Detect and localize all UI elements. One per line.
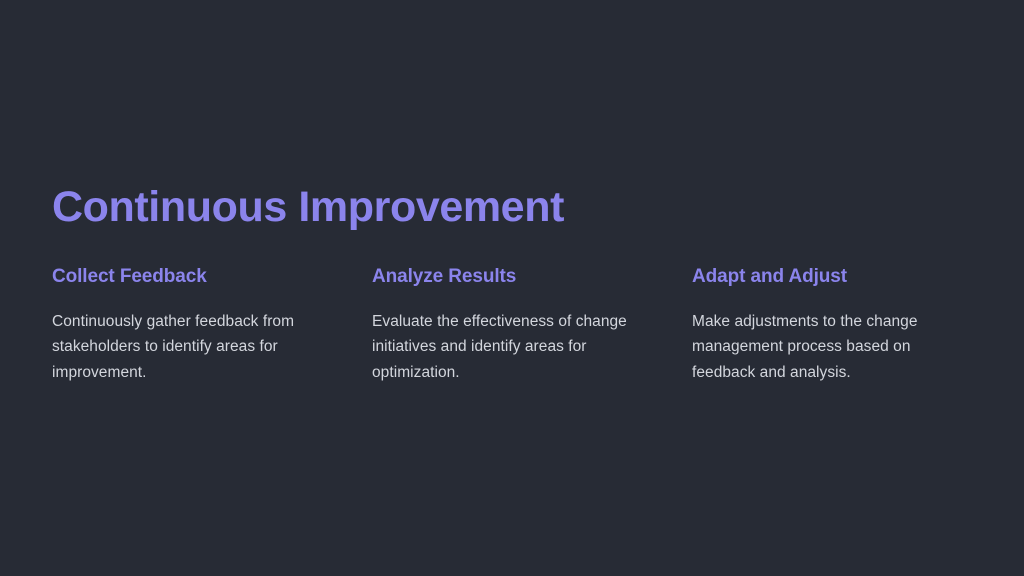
column-heading: Collect Feedback [52, 266, 324, 288]
column-heading: Analyze Results [372, 266, 644, 288]
column-adapt-and-adjust: Adapt and Adjust Make adjustments to the… [692, 266, 964, 385]
column-body-text: Evaluate the effectiveness of change ini… [372, 309, 644, 385]
column-body-text: Make adjustments to the change managemen… [692, 309, 964, 385]
page-title: Continuous Improvement [52, 183, 564, 231]
column-body-text: Continuously gather feedback from stakeh… [52, 309, 324, 385]
column-collect-feedback: Collect Feedback Continuously gather fee… [52, 266, 324, 385]
feature-columns: Collect Feedback Continuously gather fee… [52, 266, 972, 385]
column-analyze-results: Analyze Results Evaluate the effectivene… [372, 266, 644, 385]
presentation-slide: Continuous Improvement Collect Feedback … [0, 0, 1024, 576]
column-heading: Adapt and Adjust [692, 266, 964, 288]
